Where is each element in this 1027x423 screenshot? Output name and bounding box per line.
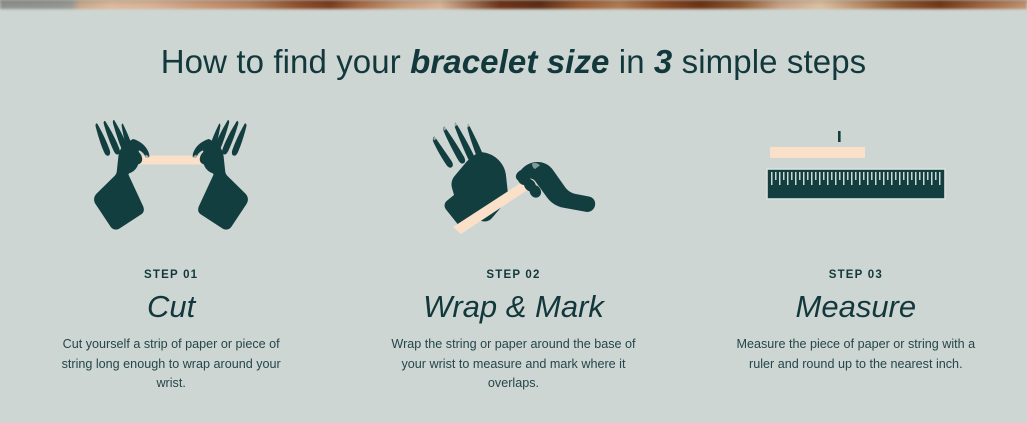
- ruler-measuring-paper-strip-icon: [756, 115, 956, 245]
- step-01-illustration: [0, 110, 342, 250]
- steps-row: STEP 01 Cut Cut yourself a strip of pape…: [0, 110, 1027, 394]
- page-title-part1: How to find your: [161, 43, 410, 80]
- right-hand-shape: [193, 120, 248, 230]
- step-card-02: STEP 02 Wrap & Mark Wrap the string or p…: [342, 110, 684, 394]
- pinching-hand-shape: [516, 162, 595, 212]
- step-card-03: STEP 03 Measure Measure the piece of pap…: [685, 110, 1027, 394]
- step-02-label: STEP 02: [486, 269, 540, 281]
- open-hand-shape: [433, 123, 508, 230]
- left-hand-shape: [94, 120, 149, 230]
- step-03-body: Measure the piece of paper or string wit…: [733, 335, 979, 374]
- step-02-body: Wrap the string or paper around the base…: [390, 335, 636, 394]
- step-card-01: STEP 01 Cut Cut yourself a strip of pape…: [0, 110, 342, 394]
- step-03-title: Measure: [796, 290, 917, 324]
- two-hands-holding-paper-strip-icon: [71, 115, 271, 245]
- page-title: How to find your bracelet size in 3 simp…: [0, 40, 1027, 84]
- page-title-part3: simple steps: [672, 43, 866, 80]
- measurement-mark-tick: [838, 131, 841, 142]
- page-title-number: 3: [654, 43, 672, 80]
- step-02-title: Wrap & Mark: [423, 290, 604, 324]
- step-03-label: STEP 03: [829, 269, 883, 281]
- bracelet-size-guide-panel: How to find your bracelet size in 3 simp…: [0, 0, 1027, 423]
- decorative-photo-band-shade: [0, 0, 1027, 9]
- step-01-label: STEP 01: [144, 269, 198, 281]
- step-01-body: Cut yourself a strip of paper or piece o…: [48, 335, 294, 394]
- step-02-illustration: [342, 110, 684, 250]
- paper-strip-shape: [770, 147, 865, 158]
- step-03-illustration: [685, 110, 1027, 250]
- step-01-title: Cut: [147, 290, 195, 324]
- page-title-emphasis: bracelet size: [410, 43, 609, 80]
- hand-wrapping-strip-around-wrist-icon: [413, 115, 613, 245]
- page-title-part2: in: [610, 43, 654, 80]
